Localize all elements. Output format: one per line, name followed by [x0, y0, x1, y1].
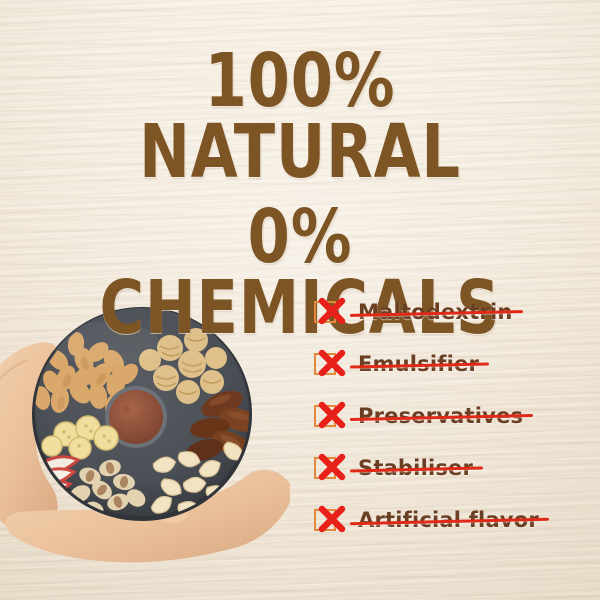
- list-item-label-wrap: Emulsifier: [358, 352, 479, 376]
- list-item-label-wrap: Maltodextrin: [358, 300, 513, 324]
- list-item[interactable]: Maltodextrin: [312, 286, 600, 338]
- crossed-checkbox-icon: [312, 297, 346, 327]
- x-mark-icon: [318, 401, 346, 429]
- crossed-checkbox-icon: [312, 349, 346, 379]
- crossed-checkbox-icon: [312, 401, 346, 431]
- banned-ingredients-list: Maltodextrin Emulsifier: [312, 286, 600, 546]
- x-mark-icon: [318, 349, 346, 377]
- list-item[interactable]: Artificial flavor: [312, 494, 600, 546]
- poster-canvas: 100% NATURAL 0% CHEMICALS: [0, 0, 600, 600]
- x-mark-icon: [318, 297, 346, 325]
- headline-line-1: 100% NATURAL: [54, 46, 546, 188]
- crossed-checkbox-icon: [312, 453, 346, 483]
- list-item[interactable]: Preservatives: [312, 390, 600, 442]
- list-item-label-wrap: Preservatives: [358, 404, 523, 428]
- list-item-label-wrap: Artificial flavor: [358, 508, 539, 532]
- x-mark-icon: [318, 505, 346, 533]
- list-item[interactable]: Emulsifier: [312, 338, 600, 390]
- x-mark-icon: [318, 453, 346, 481]
- list-item-label-wrap: Stabiliser: [358, 456, 473, 480]
- list-item[interactable]: Stabiliser: [312, 442, 600, 494]
- crossed-checkbox-icon: [312, 505, 346, 535]
